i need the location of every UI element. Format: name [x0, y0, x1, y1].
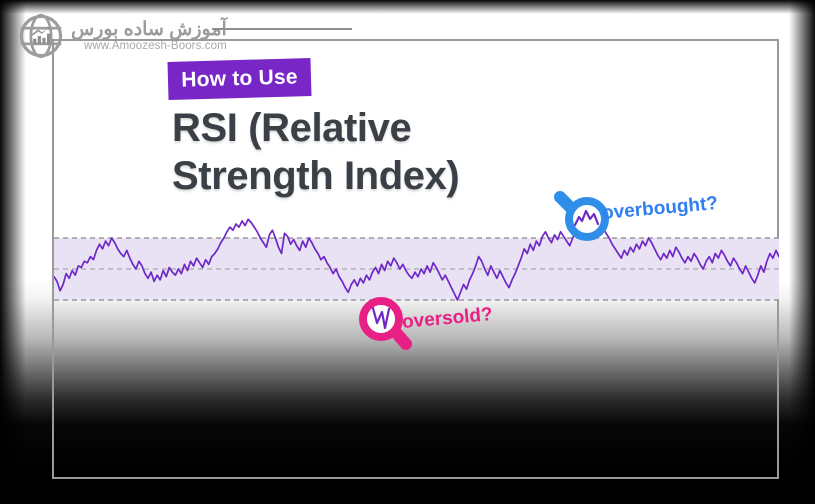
brand-website: www.Amoozesh-Boors.com	[84, 40, 227, 52]
annotation-overbought-label: overbought?	[601, 193, 719, 225]
brand-logo[interactable]: آموزش ساده بورس www.Amoozesh-Boors.com	[18, 10, 278, 62]
brand-text: آموزش ساده بورس www.Amoozesh-Boors.com	[71, 20, 227, 52]
brand-name-fa: آموزش ساده بورس	[71, 20, 227, 40]
badge-label: How to Use	[181, 65, 298, 92]
how-to-use-badge[interactable]: How to Use	[167, 58, 311, 100]
logo-divider-rule	[212, 28, 352, 30]
globe-bar-chart-icon	[18, 13, 64, 59]
poster-canvas: آموزش ساده بورس www.Amoozesh-Boors.com H…	[0, 0, 815, 504]
page-title-line-1: RSI (Relative	[172, 104, 692, 152]
annotation-overbought[interactable]: overbought?	[549, 186, 724, 246]
annotation-oversold[interactable]: oversold?	[358, 296, 498, 354]
